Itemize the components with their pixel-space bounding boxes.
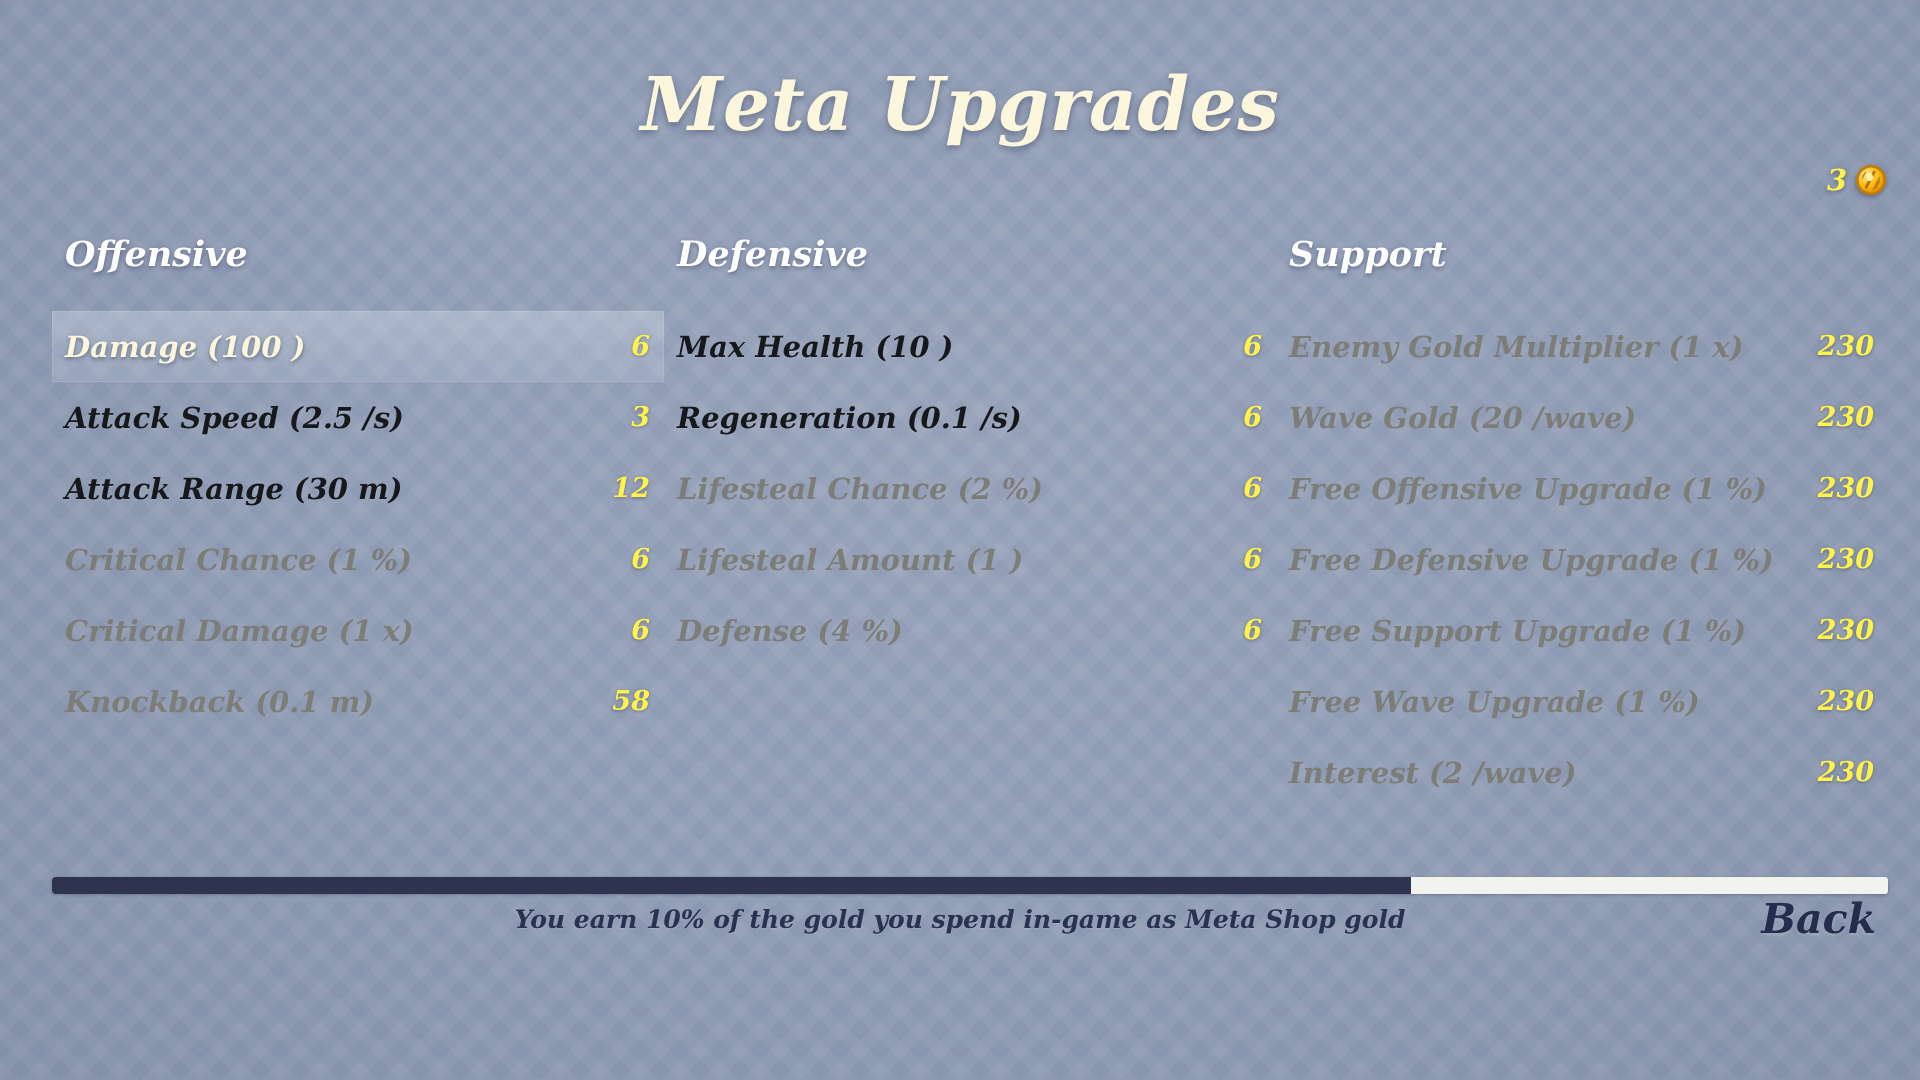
gold-coin-icon xyxy=(1856,165,1886,195)
column-header-support: Support xyxy=(1289,234,1888,275)
upgrade-cost: 6 xyxy=(1243,615,1262,646)
upgrade-label: Free Offensive Upgrade (1 %) xyxy=(1289,472,1818,506)
upgrade-cost: 230 xyxy=(1818,402,1874,433)
upgrade-row[interactable]: Critical Damage (1 x)6 xyxy=(52,595,664,666)
upgrade-cost: 6 xyxy=(631,615,650,646)
upgrade-label: Regeneration (0.1 /s) xyxy=(677,401,1243,435)
upgrade-row[interactable]: Attack Speed (2.5 /s)3 xyxy=(52,382,664,453)
upgrade-row[interactable]: Interest (2 /wave)230 xyxy=(1276,737,1888,808)
upgrade-label: Damage (100 ) xyxy=(65,330,631,364)
upgrade-row[interactable]: Free Support Upgrade (1 %)230 xyxy=(1276,595,1888,666)
upgrade-label: Enemy Gold Multiplier (1 x) xyxy=(1289,330,1818,364)
upgrade-label: Attack Range (30 m) xyxy=(65,472,612,506)
footer-hint-text: You earn 10% of the gold you spend in-ga… xyxy=(0,905,1920,934)
upgrade-list-defensive: Max Health (10 )6Regeneration (0.1 /s)6L… xyxy=(664,311,1276,666)
meta-progress-bar xyxy=(52,877,1888,894)
column-header-defensive: Defensive xyxy=(677,234,1276,275)
meta-progress-fill xyxy=(52,877,1411,894)
upgrade-row[interactable]: Enemy Gold Multiplier (1 x)230 xyxy=(1276,311,1888,382)
gold-amount-label: 3 xyxy=(1827,163,1847,197)
upgrade-label: Max Health (10 ) xyxy=(677,330,1243,364)
upgrade-cost: 230 xyxy=(1818,331,1874,362)
upgrade-cost: 6 xyxy=(631,331,650,362)
upgrade-row[interactable]: Lifesteal Amount (1 )6 xyxy=(664,524,1276,595)
upgrade-label: Free Defensive Upgrade (1 %) xyxy=(1289,543,1818,577)
upgrade-row[interactable]: Critical Chance (1 %)6 xyxy=(52,524,664,595)
upgrade-label: Critical Damage (1 x) xyxy=(65,614,631,648)
upgrade-cost: 230 xyxy=(1818,544,1874,575)
upgrade-row[interactable]: Free Wave Upgrade (1 %)230 xyxy=(1276,666,1888,737)
page-title: Meta Upgrades xyxy=(0,62,1920,148)
upgrade-label: Wave Gold (20 /wave) xyxy=(1289,401,1818,435)
upgrade-row[interactable]: Max Health (10 )6 xyxy=(664,311,1276,382)
upgrade-cost: 6 xyxy=(631,544,650,575)
upgrade-cost: 230 xyxy=(1818,757,1874,788)
upgrade-label: Lifesteal Chance (2 %) xyxy=(677,472,1243,506)
upgrade-cost: 6 xyxy=(1243,473,1262,504)
upgrade-column-support: SupportEnemy Gold Multiplier (1 x)230Wav… xyxy=(1276,234,1888,808)
gold-counter: 3 xyxy=(1827,163,1886,197)
upgrade-label: Defense (4 %) xyxy=(677,614,1243,648)
upgrade-label: Interest (2 /wave) xyxy=(1289,756,1818,790)
upgrade-label: Free Wave Upgrade (1 %) xyxy=(1289,685,1818,719)
upgrade-cost: 6 xyxy=(1243,544,1262,575)
upgrade-row[interactable]: Regeneration (0.1 /s)6 xyxy=(664,382,1276,453)
upgrade-column-offensive: OffensiveDamage (100 )6Attack Speed (2.5… xyxy=(52,234,664,808)
upgrade-cost: 230 xyxy=(1818,473,1874,504)
upgrade-cost: 230 xyxy=(1818,615,1874,646)
meta-upgrades-screen: Meta Upgrades 3 OffensiveDamage (100 )6A… xyxy=(0,0,1920,1080)
upgrade-label: Free Support Upgrade (1 %) xyxy=(1289,614,1818,648)
upgrade-label: Attack Speed (2.5 /s) xyxy=(65,401,631,435)
back-button[interactable]: Back xyxy=(1761,895,1876,943)
upgrade-label: Critical Chance (1 %) xyxy=(65,543,631,577)
upgrade-cost: 230 xyxy=(1818,686,1874,717)
upgrade-list-support: Enemy Gold Multiplier (1 x)230Wave Gold … xyxy=(1276,311,1888,808)
upgrade-cost: 6 xyxy=(1243,402,1262,433)
upgrade-list-offensive: Damage (100 )6Attack Speed (2.5 /s)3Atta… xyxy=(52,311,664,737)
upgrade-cost: 12 xyxy=(612,473,650,504)
upgrade-row[interactable]: Knockback (0.1 m)58 xyxy=(52,666,664,737)
upgrade-row[interactable]: Attack Range (30 m)12 xyxy=(52,453,664,524)
upgrade-columns: OffensiveDamage (100 )6Attack Speed (2.5… xyxy=(52,234,1888,808)
upgrade-label: Knockback (0.1 m) xyxy=(65,685,612,719)
upgrade-column-defensive: DefensiveMax Health (10 )6Regeneration (… xyxy=(664,234,1276,808)
upgrade-label: Lifesteal Amount (1 ) xyxy=(677,543,1243,577)
upgrade-row[interactable]: Lifesteal Chance (2 %)6 xyxy=(664,453,1276,524)
upgrade-row[interactable]: Free Offensive Upgrade (1 %)230 xyxy=(1276,453,1888,524)
upgrade-row[interactable]: Free Defensive Upgrade (1 %)230 xyxy=(1276,524,1888,595)
column-header-offensive: Offensive xyxy=(65,234,664,275)
upgrade-cost: 58 xyxy=(612,686,650,717)
upgrade-row[interactable]: Damage (100 )6 xyxy=(52,311,664,382)
upgrade-row[interactable]: Defense (4 %)6 xyxy=(664,595,1276,666)
upgrade-cost: 6 xyxy=(1243,331,1262,362)
upgrade-cost: 3 xyxy=(631,402,650,433)
upgrade-row[interactable]: Wave Gold (20 /wave)230 xyxy=(1276,382,1888,453)
